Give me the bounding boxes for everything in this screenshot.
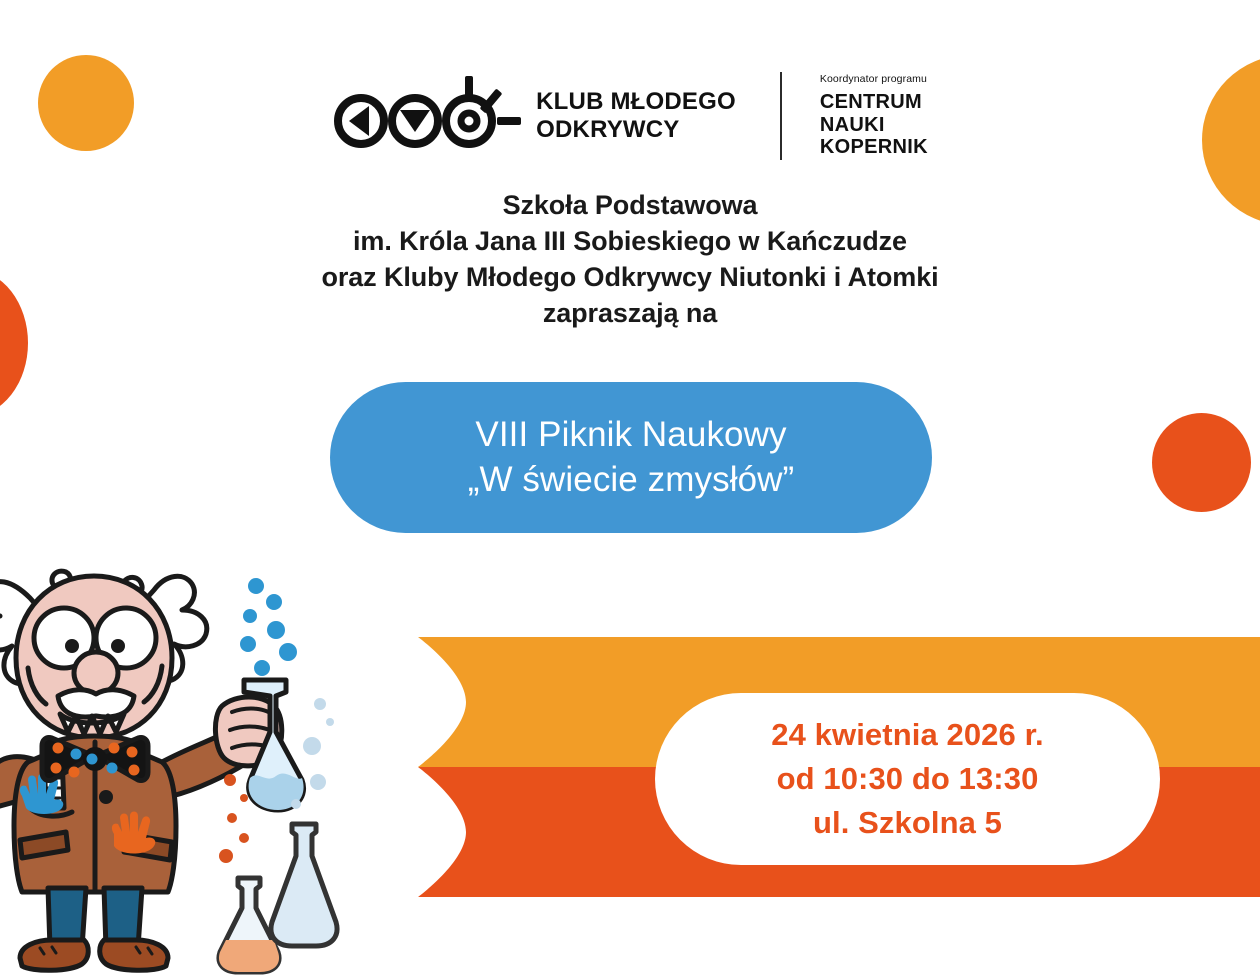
scientist-coat-button (99, 790, 113, 804)
kmo-eyes-mark-icon (332, 74, 522, 159)
event-address: ul. Szkolna 5 (813, 801, 1002, 845)
event-details-card: 24 kwietnia 2026 r. od 10:30 do 13:30 ul… (655, 693, 1160, 865)
event-title-line-2: „W świecie zmysłów” (468, 458, 795, 502)
scientist-pupil-right (111, 639, 125, 653)
decorative-circle-red-right (1152, 413, 1251, 512)
logo-divider (780, 72, 782, 160)
headline-line-1: Szkoła Podstawowa (0, 188, 1260, 224)
scientist-shoe-right (100, 940, 168, 970)
event-title-banner: VIII Piknik Naukowy „W świecie zmysłów” (330, 382, 932, 533)
scientist-illustration (0, 556, 346, 978)
event-title-line-1: VIII Piknik Naukowy (475, 413, 786, 457)
scientist-small-flask-blue (271, 824, 337, 946)
logo-row: KLUB MŁODEGO ODKRYWCY Koordynator progra… (0, 72, 1260, 160)
cnk-line-3: KOPERNIK (820, 136, 928, 158)
cnk-line-1: CENTRUM (820, 91, 922, 113)
headline-line-2: im. Króla Jana III Sobieskiego w Kańczud… (0, 224, 1260, 260)
kmo-wordmark-text: KLUB MŁODEGO ODKRYWCY (536, 88, 736, 145)
event-time: od 10:30 do 13:30 (777, 757, 1039, 801)
klub-mlodego-odkrywcy-logo: KLUB MŁODEGO ODKRYWCY (332, 74, 736, 159)
headline-line-4: zapraszają na (0, 296, 1260, 332)
page-title: Szkoła Podstawowa im. Króla Jana III Sob… (0, 188, 1260, 332)
scientist-bubbles-blue (240, 578, 297, 676)
cnk-line-2: NAUKI (820, 114, 885, 136)
headline-line-3: oraz Kluby Młodego Odkrywcy Niutonki i A… (0, 260, 1260, 296)
centrum-nauki-kopernik-logo: Koordynator programu CENTRUM NAUKI KOPER… (820, 73, 928, 158)
cnk-wordmark-text: CENTRUM NAUKI KOPERNIK (820, 91, 928, 158)
cnk-kicker-text: Koordynator programu (820, 73, 928, 85)
scientist-shoe-left (20, 940, 88, 970)
poster-canvas: KLUB MŁODEGO ODKRYWCY Koordynator progra… (0, 0, 1260, 978)
event-date: 24 kwietnia 2026 r. (771, 713, 1043, 757)
scientist-pupil-left (65, 639, 79, 653)
